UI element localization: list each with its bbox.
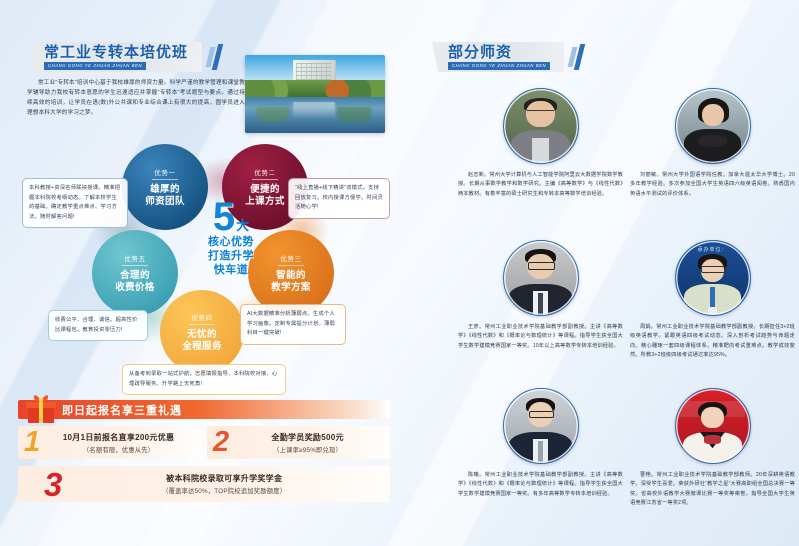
- center-number: 5: [213, 200, 234, 234]
- teacher-4-bio: 周娟。常州工业职业技术学院基础教学部副教授。长期担任3+2班级英语教学。紧跟英语…: [630, 323, 795, 361]
- teacher-5-bio: 陈曦。常州工业职业技术学院基础教学部副教授。主讲《高等数学》《线性代数》和《概率…: [458, 471, 623, 499]
- center-sub-line2: 打造升学: [176, 250, 286, 263]
- offer-1-number: 1: [24, 428, 40, 457]
- offers-banner-title: 即日起报名享三重礼遇: [62, 402, 182, 418]
- offers-banner: 即日起报名享三重礼遇: [18, 400, 390, 419]
- teacher-avatar-zhao: [503, 88, 579, 164]
- callout-advantage-4: 从备考到录取一站式护航；志愿填报指导、本科院校对接、心理疏导服务。升学路上无死角…: [122, 364, 286, 395]
- teacher-6-bio: 曹艳。常州工业职业技术学院基础教学部教师。20年深耕英语教学。深受学生喜爱。荣获…: [630, 471, 795, 509]
- campus-photo: [245, 55, 385, 133]
- teacher-card-3: 王彦。常州工业职业技术学院基础教学部副教授。主讲《高等数学》《线性代数》和《概率…: [458, 240, 623, 351]
- teacher-avatar-liu: [675, 88, 751, 164]
- callout-advantage-2: “线上直播+线下精讲”双模式。支持回放复习。校内授课方便学。时间灵活随心学!: [288, 178, 390, 219]
- left-header-title: 常工业专转本培优班: [44, 45, 188, 60]
- offer-1-main: 10月1日前报名直享200元优惠: [44, 432, 193, 443]
- left-header-plate: 常工业专转本培优班 CHANG GONG YE ZHUAN ZHUAN BEN: [28, 42, 202, 72]
- offers-row-bottom: 3 被本科院校录取可享升学奖学金 （覆盖率达50%，TOP院校追加奖励额度）: [18, 466, 390, 502]
- gift-box-icon: [24, 393, 58, 427]
- right-header-plate: 部分师资 CHANG GONG YE ZHUAN ZHUAN BEN: [432, 42, 564, 72]
- offer-1-sub: （名额有限，优惠从先）: [44, 445, 193, 454]
- photo-tree-reflection: [245, 107, 385, 123]
- offer-item-1: 1 10月1日前报名直享200元优惠 （名额有限，优惠从先）: [18, 426, 201, 459]
- teacher-card-1: 赵志新。常州大学计算机与人工智能学院阿里云大数据学院数学教授。长期从事数学教学和…: [458, 88, 623, 199]
- teacher-avatar-chen: [503, 388, 579, 464]
- offer-2-number: 2: [213, 428, 229, 457]
- offer-2-sub: （上课率≥95%即兑现）: [233, 445, 382, 454]
- callout-advantage-1: 本科教授+资深名师联袂授课。精准把握本科院校考纲动态。了解本校学生的基础。确定教…: [22, 178, 128, 228]
- callout-advantage-3: AI大数据精准分析薄弱点。生成个人学习画像。定制专属提分计划。薄弱科目一键突破!: [240, 304, 346, 345]
- offer-item-2: 2 全勤学员奖励500元 （上课率≥95%即兑现）: [207, 426, 390, 459]
- center-unit: 大: [236, 218, 249, 233]
- offer-3-main: 被本科院校录取可享升学奖学金: [66, 473, 382, 484]
- teacher-2-bio: 刘丽敏。常州大学外国语学院任教。加拿大渥太华大学博士。20多年教学经验。多次参加…: [630, 171, 795, 199]
- teacher-card-6: 曹艳。常州工业职业技术学院基础教学部教师。20年深耕英语教学。深受学生喜爱。荣获…: [630, 388, 795, 509]
- advantage-node-2-tag: 优势二: [252, 167, 278, 183]
- teacher-1-bio: 赵志新。常州大学计算机与人工智能学院阿里云大数据学院数学教授。长期从事数学教学和…: [458, 171, 623, 199]
- right-section-header: 部分师资 CHANG GONG YE ZHUAN ZHUAN BEN: [432, 42, 582, 72]
- advantage-node-1-tag: 优势一: [152, 167, 178, 183]
- advantage-node-5[interactable]: 优势五 合理的 收费价格: [92, 230, 178, 316]
- teacher-card-4: 承办单位： 周娟。常州工业职业技术学院基础教学部副教授。长期担任3+2班级英语教…: [630, 240, 795, 361]
- teacher-avatar-zhou: 承办单位：: [675, 240, 751, 316]
- offer-2-main: 全勤学员奖励500元: [233, 432, 382, 443]
- left-header-subtitle: CHANG GONG YE ZHUAN ZHUAN BEN: [44, 62, 146, 70]
- offer-3-sub: （覆盖率达50%，TOP院校追加奖励额度）: [66, 486, 382, 495]
- offer-item-3: 3 被本科院校录取可享升学奖学金 （覆盖率达50%，TOP院校追加奖励额度）: [18, 466, 390, 502]
- advantage-node-4-title-line2: 全程服务: [182, 341, 222, 353]
- advantage-node-5-title-line1: 合理的: [120, 270, 150, 282]
- offers-row-top: 1 10月1日前报名直享200元优惠 （名额有限，优惠从先） 2 全勤学员奖励5…: [18, 426, 390, 459]
- right-header-title: 部分师资: [448, 45, 550, 60]
- teacher-card-5: 陈曦。常州工业职业技术学院基础教学部副教授。主讲《高等数学》《线性代数》和《概率…: [458, 388, 623, 499]
- advantage-node-4-tag: 优势四: [189, 312, 215, 328]
- advantage-node-5-tag: 优势五: [122, 253, 148, 269]
- teacher-avatar-cao: [675, 388, 751, 464]
- teacher-avatar-wang: [503, 240, 579, 316]
- photo-trees: [245, 80, 385, 97]
- offer-3-number: 3: [44, 468, 62, 501]
- intro-paragraph: 常工业“专转本”培训中心基于我校雄厚的师资力量。科学严谨的教学管理和课堂教学辅导…: [27, 78, 245, 118]
- diagram-center-label: 5大 核心优势 打造升学 快车道: [176, 200, 286, 310]
- left-section-header: 常工业专转本培优班 CHANG GONG YE ZHUAN ZHUAN BEN: [28, 42, 220, 72]
- advantage-node-2-title-line1: 便捷的: [250, 184, 280, 196]
- teacher-card-2: 刘丽敏。常州大学外国语学院任教。加拿大渥太华大学博士。20多年教学经验。多次参加…: [630, 88, 795, 199]
- center-sub-line3: 快车道: [176, 264, 286, 277]
- advantage-node-1-title-line1: 雄厚的: [150, 184, 180, 196]
- advantage-node-4-title-line1: 无忧的: [187, 329, 217, 341]
- advantage-node-5-title-line2: 收费价格: [115, 282, 155, 294]
- callout-advantage-5: 收费公平、合理、诚信。超高性价比课程包。教育投资零压力!: [48, 310, 148, 341]
- teacher-3-bio: 王彦。常州工业职业技术学院基础教学部副教授。主讲《高等数学》《线性代数》和《概率…: [458, 323, 623, 351]
- right-header-subtitle: CHANG GONG YE ZHUAN ZHUAN BEN: [448, 62, 550, 70]
- center-sub-line1: 核心优势: [176, 236, 286, 249]
- offers-section: 即日起报名享三重礼遇 1 10月1日前报名直享200元优惠 （名额有限，优惠从先…: [18, 400, 390, 502]
